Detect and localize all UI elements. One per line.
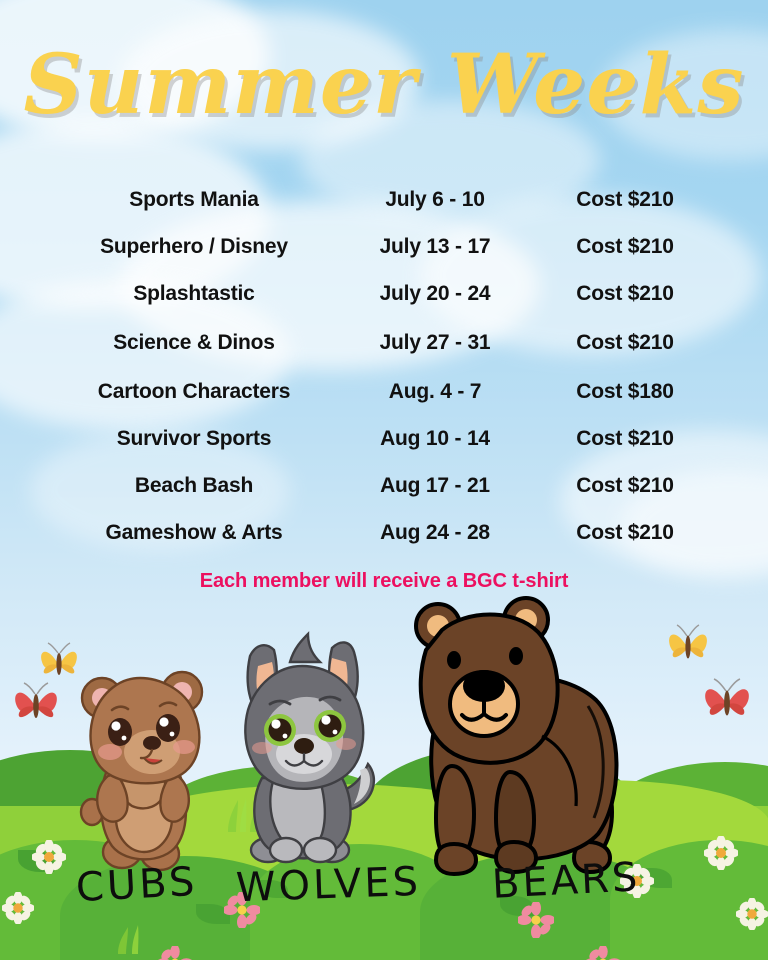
activity-dates: Aug 24 - 28 [380,521,490,544]
activity-name-cell: Beach Bash [48,474,340,498]
activity-name: Superhero / Disney [100,235,288,258]
brown-bear-icon [392,596,642,891]
butterfly-red-right-icon [700,674,754,729]
activity-name: Splashtastic [133,282,254,305]
activity-dates: Aug. 4 - 7 [389,380,482,403]
activity-cost-cell: Cost $210 [530,235,720,259]
activity-cost: Cost $210 [576,282,673,305]
activity-dates: July 20 - 24 [380,282,491,305]
activity-name-cell: Cartoon Characters [48,380,340,404]
bear-cub-icon [72,640,212,880]
activity-cost-cell: Cost $210 [530,521,720,545]
activity-name-cell: Superhero / Disney [48,235,340,259]
activity-dates: July 6 - 10 [385,188,484,211]
flower-pink-icon [158,946,192,960]
activity-dates: July 27 - 31 [380,331,491,354]
activity-cost-cell: Cost $210 [530,188,720,212]
daisy-white-icon [32,840,66,879]
table-row: Superhero / Disney July 13 - 17 Cost $21… [48,223,720,270]
schedule-table: Sports Mania July 6 - 10 Cost $210 Super… [48,176,720,556]
summer-weeks-poster: Summer Weeks Sports Mania July 6 - 10 Co… [0,0,768,960]
flower-pink-icon [518,902,554,943]
activity-dates-cell: July 27 - 31 [340,331,530,355]
activity-dates-cell: July 20 - 24 [340,282,530,306]
wolf-pup-icon [228,628,378,883]
activity-dates-cell: Aug. 4 - 7 [340,380,530,404]
activity-cost-cell: Cost $210 [530,282,720,306]
activity-cost-cell: Cost $210 [530,474,720,498]
activity-name: Science & Dinos [113,331,275,354]
butterfly-yellow-right-icon [664,622,712,671]
activity-dates-cell: July 13 - 17 [340,235,530,259]
butterfly-red-left-icon [10,678,62,731]
table-row: Sports Mania July 6 - 10 Cost $210 [48,176,720,223]
activity-cost: Cost $210 [576,474,673,497]
activity-dates-cell: July 6 - 10 [340,188,530,212]
activity-name: Survivor Sports [117,427,272,450]
activity-cost: Cost $210 [576,427,673,450]
table-row: Science & Dinos July 27 - 31 Cost $210 [48,317,720,368]
activity-cost: Cost $210 [576,188,673,211]
group-label-cubs: CUBS [75,859,199,911]
activity-name: Cartoon Characters [98,380,290,403]
activity-cost-cell: Cost $180 [530,380,720,404]
activity-name-cell: Science & Dinos [48,331,340,355]
activity-cost: Cost $210 [576,331,673,354]
table-row: Gameshow & Arts Aug 24 - 28 Cost $210 [48,509,720,556]
activity-dates: Aug 10 - 14 [380,427,490,450]
activity-dates-cell: Aug 17 - 21 [340,474,530,498]
activity-name-cell: Sports Mania [48,188,340,212]
activity-cost: Cost $180 [576,380,673,403]
page-title: Summer Weeks [0,42,768,128]
activity-name: Sports Mania [129,188,258,211]
table-row: Beach Bash Aug 17 - 21 Cost $210 [48,462,720,509]
table-row: Splashtastic July 20 - 24 Cost $210 [48,270,720,317]
activity-cost-cell: Cost $210 [530,331,720,355]
activity-cost: Cost $210 [576,235,673,258]
daisy-white-icon [736,898,768,935]
activity-dates-cell: Aug 24 - 28 [340,521,530,545]
table-row: Cartoon Characters Aug. 4 - 7 Cost $180 [48,368,720,415]
activity-dates: July 13 - 17 [380,235,491,258]
activity-cost-cell: Cost $210 [530,427,720,451]
daisy-white-icon [704,836,738,875]
flower-pink-icon [586,946,620,960]
daisy-white-icon [2,892,34,929]
activity-name: Gameshow & Arts [105,521,282,544]
activity-dates: Aug 17 - 21 [380,474,490,497]
activity-cost: Cost $210 [576,521,673,544]
activity-name-cell: Splashtastic [48,282,340,306]
activity-name: Beach Bash [135,474,253,497]
tshirt-note: Each member will receive a BGC t-shirt [0,570,768,593]
activity-name-cell: Survivor Sports [48,427,340,451]
activity-name-cell: Gameshow & Arts [48,521,340,545]
group-label-bears: BEARS [491,854,641,908]
table-row: Survivor Sports Aug 10 - 14 Cost $210 [48,415,720,462]
grass-tuft-icon [112,924,156,954]
group-label-wolves: WOLVES [235,859,421,911]
activity-dates-cell: Aug 10 - 14 [340,427,530,451]
